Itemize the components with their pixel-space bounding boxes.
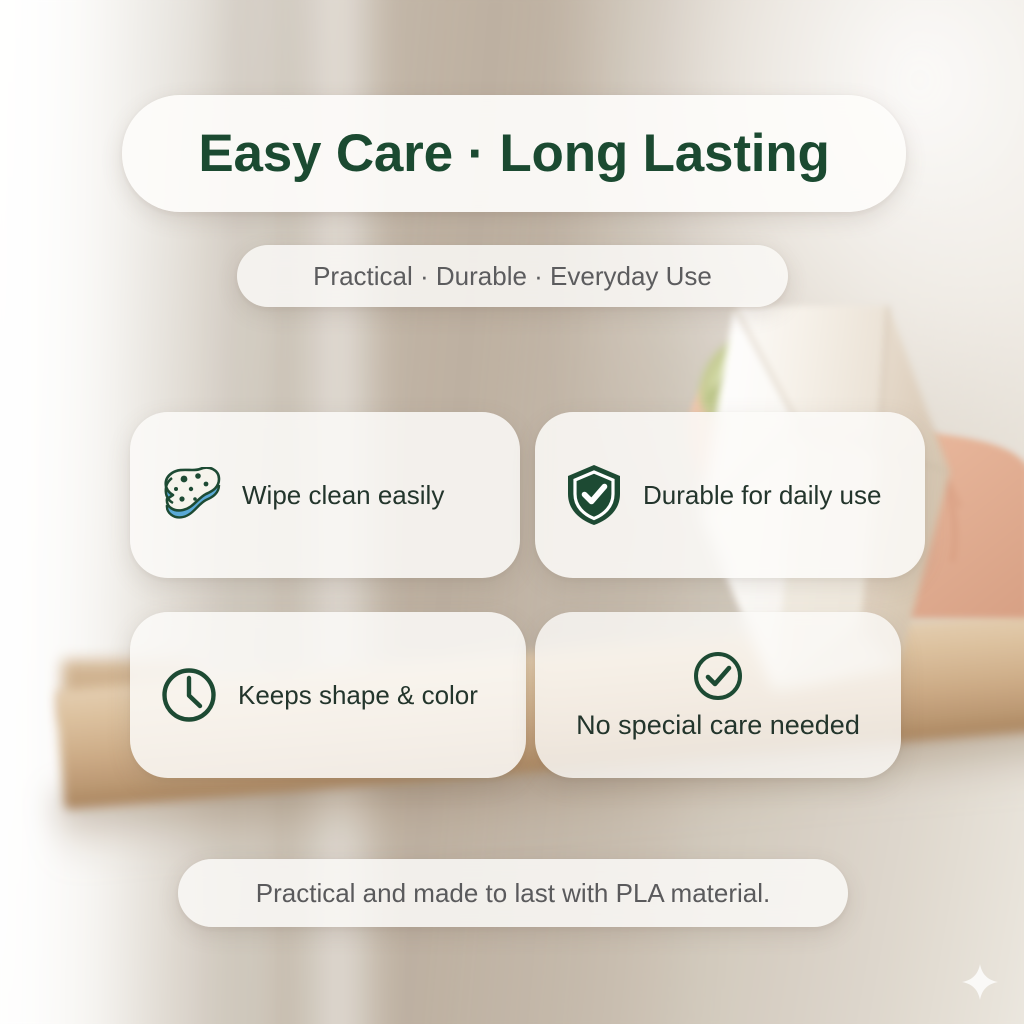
feature-label-shape: Keeps shape & color — [238, 680, 478, 711]
caption-pill: Practical and made to last with PLA mate… — [178, 859, 848, 927]
shield-check-icon — [565, 463, 623, 527]
promo-graphic: Easy Care · Long Lasting Practical · Dur… — [0, 0, 1024, 1024]
circle-check-icon — [692, 650, 744, 702]
feature-label-durable: Durable for daily use — [643, 480, 881, 511]
feature-card-wipe[interactable]: Wipe clean easily — [130, 412, 520, 578]
sparkle-icon — [960, 962, 1000, 1002]
clock-icon — [160, 666, 218, 724]
feature-label-nocare: No special care needed — [576, 710, 860, 741]
subtitle-pill: Practical · Durable · Everyday Use — [237, 245, 788, 307]
feature-card-shape[interactable]: Keeps shape & color — [130, 612, 526, 778]
sponge-icon — [160, 467, 222, 523]
page-title: Easy Care · Long Lasting — [198, 123, 829, 184]
feature-label-wipe: Wipe clean easily — [242, 480, 444, 511]
title-pill: Easy Care · Long Lasting — [122, 95, 906, 212]
page-subtitle: Practical · Durable · Everyday Use — [313, 261, 712, 292]
feature-card-nocare[interactable]: No special care needed — [535, 612, 901, 778]
feature-card-durable[interactable]: Durable for daily use — [535, 412, 925, 578]
footer-caption: Practical and made to last with PLA mate… — [256, 878, 770, 909]
